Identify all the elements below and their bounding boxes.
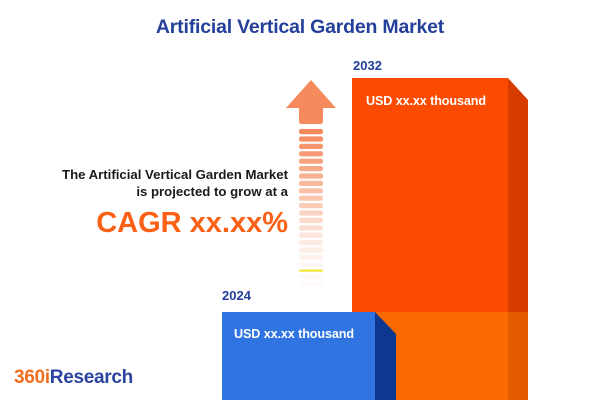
bar-2032-value-label: USD xx.xx thousand [366, 94, 486, 108]
year-label-2024: 2024 [222, 288, 251, 303]
infographic-canvas: Artificial Vertical Garden Market The Ar… [0, 0, 600, 400]
cagr-callout: The Artificial Vertical Garden Market is… [8, 166, 288, 240]
growth-arrow-icon [284, 78, 338, 293]
brand-logo: 360iResearch [14, 367, 133, 389]
callout-line-1: The Artificial Vertical Garden Market [8, 166, 288, 183]
bar-2024-value-label: USD xx.xx thousand [234, 327, 354, 341]
logo-prefix: 360i [14, 367, 50, 388]
upward-arrow-icon [284, 78, 338, 293]
bar-2024 [222, 312, 396, 400]
logo-suffix: Research [50, 367, 133, 388]
bar-2024-side-face [375, 312, 396, 400]
year-label-2032: 2032 [353, 58, 382, 73]
bar-2032-side-face-overlap [508, 312, 528, 400]
bar-2024-front-face [222, 312, 375, 400]
callout-line-2: is projected to grow at a [8, 183, 288, 200]
cagr-value: CAGR xx.xx% [8, 206, 288, 240]
page-title: Artificial Vertical Garden Market [0, 16, 600, 39]
